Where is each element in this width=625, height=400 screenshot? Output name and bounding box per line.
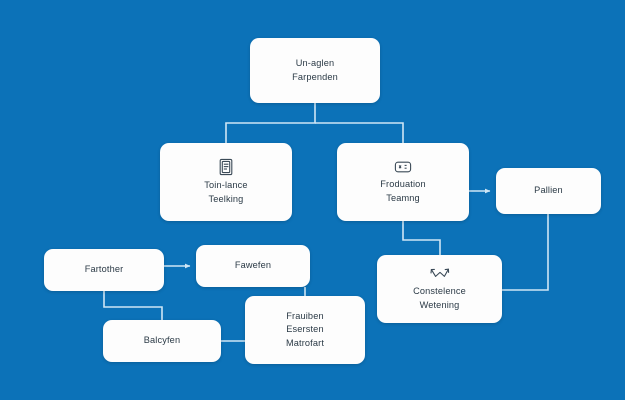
node-balcyfen-label: Balcyfen [144,334,180,347]
document-icon [218,158,234,176]
node-frauiben-label: Frauiben Esersten Matrofart [286,310,324,350]
node-fawefen[interactable]: Fawefen [196,245,310,287]
box-icon [393,159,413,175]
node-fartother[interactable]: Fartother [44,249,164,291]
node-fartother-label: Fartother [85,263,124,276]
node-frauiben[interactable]: Frauiben Esersten Matrofart [245,296,365,364]
edge-root-to-compliance [226,103,315,143]
node-production-label: Froduation Teamng [380,178,425,205]
node-fawefen-label: Fawefen [235,259,271,272]
node-balcyfen[interactable]: Balcyfen [103,320,221,362]
node-pallien[interactable]: Pallien [496,168,601,214]
diagram-canvas: Un-aglen Farpenden Toin-lance Teelking [0,0,625,400]
node-pallien-label: Pallien [534,184,563,197]
node-production[interactable]: Froduation Teamng [337,143,469,221]
node-root-label: Un-aglen Farpenden [292,57,338,84]
node-compliance[interactable]: Toin-lance Teelking [160,143,292,221]
edge-pallien-to-constelence [502,214,548,290]
trending-arrow-icon [429,266,451,282]
node-constelence-label: Constelence Wetening [413,285,466,312]
node-root[interactable]: Un-aglen Farpenden [250,38,380,103]
node-constelence[interactable]: Constelence Wetening [377,255,502,323]
edge-fartother-to-balcyfen [104,291,162,320]
node-compliance-label: Toin-lance Teelking [204,179,247,206]
edge-production-to-constelence [403,221,440,255]
edge-root-to-production [315,123,403,143]
